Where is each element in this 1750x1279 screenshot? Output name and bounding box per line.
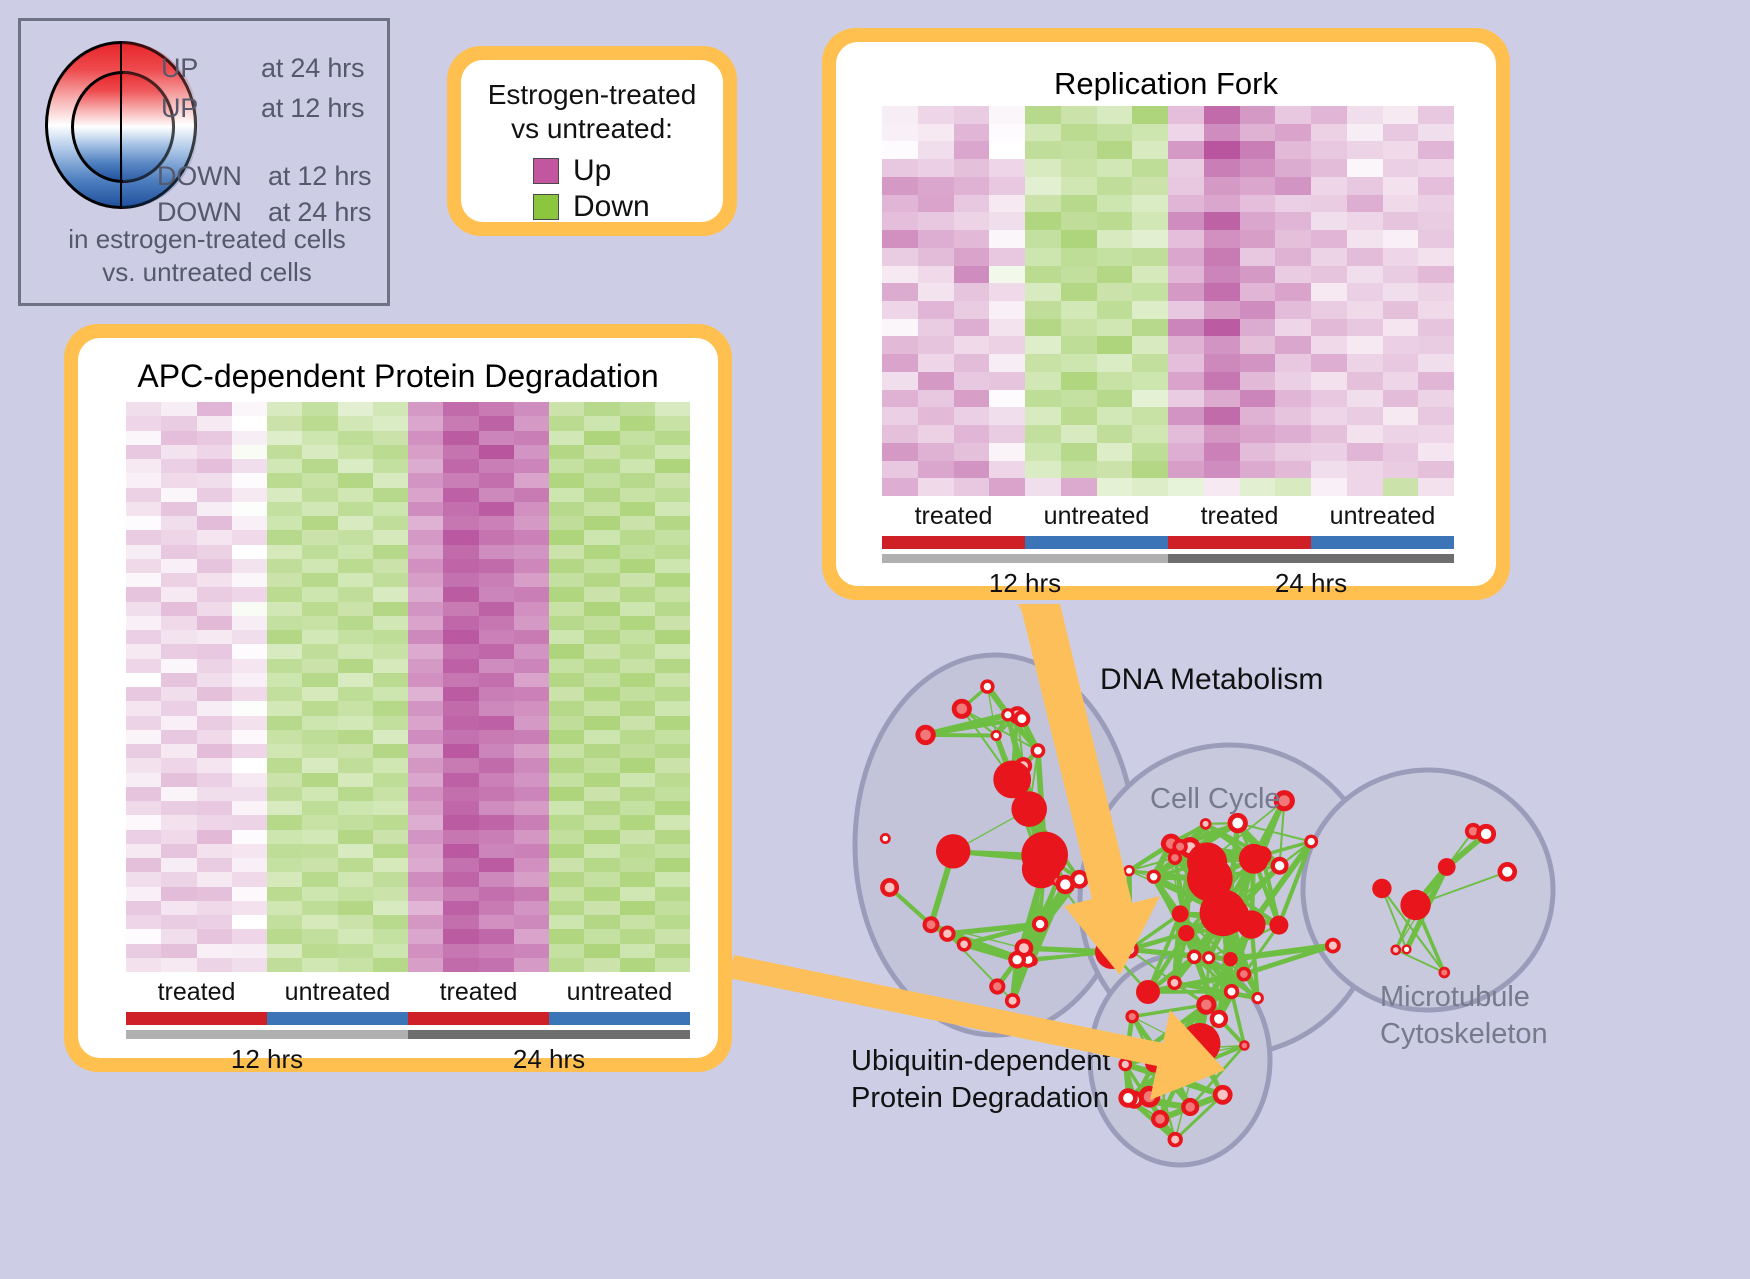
heatmap-cell <box>302 516 337 530</box>
network-node[interactable] <box>1123 865 1134 876</box>
heatmap-cell <box>479 602 514 616</box>
network-node[interactable] <box>1167 976 1182 991</box>
heatmap-cell <box>549 530 584 544</box>
heatmap-cell <box>620 815 655 829</box>
heatmap-cell <box>408 730 443 744</box>
heatmap-cell <box>302 915 337 929</box>
network-node[interactable] <box>1252 992 1264 1004</box>
network-node[interactable] <box>880 833 891 844</box>
network-node[interactable] <box>939 926 955 942</box>
heatmap-cell <box>549 830 584 844</box>
network-node[interactable] <box>1200 818 1212 830</box>
network-node[interactable] <box>1136 980 1160 1004</box>
heatmap-cell <box>1383 230 1419 248</box>
time-label-24hrs: 24 hrs <box>1168 568 1454 599</box>
heatmap-cell <box>584 944 619 958</box>
heatmap-cell <box>620 559 655 573</box>
network-node[interactable] <box>980 679 994 693</box>
heatmap-cell <box>989 177 1025 195</box>
network-node[interactable] <box>1172 839 1187 854</box>
network-node[interactable] <box>1147 870 1161 884</box>
heatmap-cell <box>1311 407 1347 425</box>
heatmap-cell <box>620 716 655 730</box>
heatmap-cell <box>655 758 690 772</box>
heatmap-cell <box>408 830 443 844</box>
heatmap-cell <box>197 573 232 587</box>
heatmap-cell <box>1204 443 1240 461</box>
heatmap-cell <box>1132 319 1168 337</box>
heatmap-cell <box>584 815 619 829</box>
heatmap-cell <box>549 644 584 658</box>
heatmap-cell <box>620 545 655 559</box>
heatmap-cell <box>1097 141 1133 159</box>
heatmap-cell <box>882 177 918 195</box>
heatmap-cell <box>338 687 373 701</box>
heatmap-cell <box>126 402 161 416</box>
network-node[interactable] <box>1178 925 1194 941</box>
heatmap-cell <box>620 502 655 516</box>
network-node[interactable] <box>1008 951 1026 969</box>
node-inner-core <box>1214 1014 1224 1024</box>
heatmap-cell <box>1025 443 1061 461</box>
heatmap-cell <box>620 445 655 459</box>
heatmap-cell <box>655 630 690 644</box>
heatmap-cell <box>479 929 514 943</box>
heatmap-cell <box>373 431 408 445</box>
node-inner-core <box>1004 711 1011 718</box>
heatmap-cell <box>882 195 918 213</box>
network-node[interactable] <box>1390 945 1401 956</box>
cond-label-0: treated <box>126 978 267 1007</box>
heatmap-cell <box>549 787 584 801</box>
network-node[interactable] <box>1213 1085 1233 1105</box>
heatmap-cell <box>1061 319 1097 337</box>
node-inner-core <box>1129 1013 1136 1020</box>
heatmap-cell <box>620 630 655 644</box>
heatmap-cell <box>373 416 408 430</box>
heatmap-cell <box>1025 159 1061 177</box>
heatmap-cell <box>1025 283 1061 301</box>
heatmap-cell <box>126 559 161 573</box>
network-node[interactable] <box>1196 995 1216 1015</box>
heatmap-cell <box>373 801 408 815</box>
heatmap-cell <box>1311 336 1347 354</box>
heatmap-cell <box>1418 124 1454 142</box>
heatmap-cell <box>408 502 443 516</box>
heatmap-cell <box>584 801 619 815</box>
network-node[interactable] <box>957 937 972 952</box>
network-node[interactable] <box>1439 967 1451 979</box>
time-bar-24hrs <box>1168 554 1454 563</box>
heatmap-cell <box>197 416 232 430</box>
heatmap-cell <box>161 402 196 416</box>
heatmap-cell <box>373 644 408 658</box>
heatmap-cell <box>161 901 196 915</box>
heatmap-cell <box>620 801 655 815</box>
heatmap-cell <box>1132 336 1168 354</box>
network-node[interactable] <box>1498 862 1518 882</box>
network-node[interactable] <box>1269 916 1288 935</box>
heatmap-cell <box>267 488 302 502</box>
heatmap-cell <box>549 445 584 459</box>
heatmap-cell <box>1383 248 1419 266</box>
node-outer-ring <box>1223 952 1237 966</box>
heatmap-cell <box>1383 283 1419 301</box>
network-node[interactable] <box>1372 879 1391 898</box>
network-node[interactable] <box>936 834 970 868</box>
heatmap-cell <box>1132 124 1168 142</box>
heatmap-cell <box>584 559 619 573</box>
heatmap-cell <box>1168 301 1204 319</box>
network-node[interactable] <box>1476 824 1496 844</box>
heatmap-cell <box>197 830 232 844</box>
heatmap-cell <box>882 478 918 496</box>
heatmap-cell <box>126 687 161 701</box>
heatmap-cell <box>1275 319 1311 337</box>
network-node[interactable] <box>1187 856 1233 902</box>
heatmap-cell <box>302 473 337 487</box>
heatmap-cell <box>1383 195 1419 213</box>
heatmap-cell <box>338 730 373 744</box>
network-node[interactable] <box>1402 944 1412 954</box>
network-node[interactable] <box>1237 967 1252 982</box>
node-outer-ring <box>1400 890 1430 920</box>
network-node[interactable] <box>1202 951 1215 964</box>
node-inner-core <box>1171 854 1178 861</box>
replication-fork-title: Replication Fork <box>836 66 1496 102</box>
heatmap-cell <box>655 459 690 473</box>
heatmap-cell <box>584 530 619 544</box>
heatmap-cell <box>1061 336 1097 354</box>
heatmap-cell <box>232 587 267 601</box>
heatmap-cell <box>918 390 954 408</box>
heatmap-cell <box>1168 443 1204 461</box>
heatmap-cell <box>232 431 267 445</box>
heatmap-cell <box>161 502 196 516</box>
heatmap-cell <box>1418 425 1454 443</box>
heatmap-cell <box>232 701 267 715</box>
heatmap-cell <box>655 687 690 701</box>
node-outer-ring <box>1011 791 1047 827</box>
heatmap-cell <box>514 630 549 644</box>
heatmap-cell <box>126 872 161 886</box>
heatmap-cell <box>408 545 443 559</box>
node-inner-core <box>1203 821 1209 827</box>
wheel-time-down-12: at 12 hrs <box>268 161 371 192</box>
heatmap-cell <box>373 602 408 616</box>
network-node[interactable] <box>1172 905 1189 922</box>
heatmap-cell <box>1097 124 1133 142</box>
heatmap-cell <box>620 858 655 872</box>
heatmap-cell <box>373 459 408 473</box>
heatmap-cell <box>1418 478 1454 496</box>
network-node[interactable] <box>1181 1098 1199 1116</box>
heatmap-cell <box>514 616 549 630</box>
network-node[interactable] <box>1118 1088 1137 1107</box>
heatmap-cell <box>1025 230 1061 248</box>
node-inner-core <box>1171 979 1179 987</box>
heatmap-cell <box>882 319 918 337</box>
heatmap-cell <box>954 141 990 159</box>
heatmap-cell <box>1418 283 1454 301</box>
heatmap-cell <box>584 901 619 915</box>
node-inner-core <box>1228 988 1236 996</box>
network-node[interactable] <box>1013 710 1030 727</box>
heatmap-cell <box>549 602 584 616</box>
heatmap-cell <box>1132 390 1168 408</box>
network-node[interactable] <box>1001 708 1014 721</box>
network-node[interactable] <box>991 730 1002 741</box>
heatmap-cell <box>126 502 161 516</box>
wheel-time-up-24: at 24 hrs <box>261 53 364 84</box>
network-node[interactable] <box>1271 857 1289 875</box>
heatmap-cell <box>161 801 196 815</box>
heatmap-cell <box>1097 354 1133 372</box>
network-node[interactable] <box>1139 1086 1161 1108</box>
heatmap-cell <box>1311 372 1347 390</box>
heatmap-cell <box>620 929 655 943</box>
heatmap-cell <box>1025 407 1061 425</box>
heatmap-cell <box>549 730 584 744</box>
heatmap-cell <box>1168 425 1204 443</box>
heatmap-cell <box>479 530 514 544</box>
heatmap-cell <box>514 872 549 886</box>
network-node[interactable] <box>1011 791 1047 827</box>
heatmap-cell <box>267 587 302 601</box>
node-inner-core <box>1013 955 1022 964</box>
heatmap-cell <box>954 443 990 461</box>
heatmap-cell <box>267 659 302 673</box>
node-inner-core <box>1144 1091 1155 1102</box>
heatmap-cell <box>1132 230 1168 248</box>
node-outer-ring <box>1438 858 1456 876</box>
heatmap-cell <box>1311 212 1347 230</box>
heatmap-cell <box>302 730 337 744</box>
heatmap-cell <box>408 716 443 730</box>
network-node[interactable] <box>1400 890 1430 920</box>
heatmap-cell <box>443 459 478 473</box>
heatmap-cell <box>954 283 990 301</box>
heatmap-cell <box>302 488 337 502</box>
heatmap-cell <box>232 402 267 416</box>
heatmap-cell <box>620 901 655 915</box>
heatmap-cell <box>443 416 478 430</box>
heatmap-cell <box>373 473 408 487</box>
heatmap-cell <box>1025 106 1061 124</box>
heatmap-cell <box>1061 159 1097 177</box>
heatmap-cell <box>232 815 267 829</box>
heatmap-cell <box>549 659 584 673</box>
heatmap-cell <box>882 443 918 461</box>
heatmap-cell <box>373 815 408 829</box>
heatmap-cell <box>1132 212 1168 230</box>
heatmap-cell <box>514 402 549 416</box>
heatmap-cell <box>267 744 302 758</box>
heatmap-cell <box>161 573 196 587</box>
heatmap-cell <box>1275 301 1311 319</box>
node-inner-core <box>1186 1102 1195 1111</box>
heatmap-cell <box>443 701 478 715</box>
heatmap-cell <box>479 716 514 730</box>
network-node[interactable] <box>1325 938 1341 954</box>
heatmap-cell <box>1240 407 1276 425</box>
network-node[interactable] <box>1070 870 1089 889</box>
heatmap-cell <box>1025 354 1061 372</box>
heatmap-cell <box>197 473 232 487</box>
heatmap-cell <box>655 502 690 516</box>
network-node[interactable] <box>1253 846 1272 865</box>
heatmap-cell <box>584 602 619 616</box>
heatmap-cell <box>1418 141 1454 159</box>
network-node[interactable] <box>1036 850 1056 870</box>
heatmap-cell <box>655 915 690 929</box>
heatmap-cell <box>620 701 655 715</box>
heatmap-cell <box>620 887 655 901</box>
heatmap-cell <box>514 473 549 487</box>
heatmap-cell <box>408 901 443 915</box>
heatmap-cell <box>918 301 954 319</box>
heatmap-cell <box>1347 478 1383 496</box>
heatmap-cell <box>882 248 918 266</box>
heatmap-cell <box>232 915 267 929</box>
heatmap-cell <box>443 573 478 587</box>
heatmap-cell <box>479 559 514 573</box>
heatmap-cell <box>655 801 690 815</box>
heatmap-cell <box>989 336 1025 354</box>
heatmap-cell <box>954 212 990 230</box>
network-node[interactable] <box>1223 952 1237 966</box>
heatmap-cell <box>1418 461 1454 479</box>
network-node[interactable] <box>1125 1010 1139 1024</box>
heatmap-cell <box>267 573 302 587</box>
heatmap-cell <box>161 958 196 972</box>
network-node[interactable] <box>880 878 899 897</box>
network-node[interactable] <box>1005 993 1020 1008</box>
heatmap-cell <box>479 944 514 958</box>
heatmap-cell <box>302 673 337 687</box>
heatmap-cell <box>267 901 302 915</box>
heatmap-cell <box>373 445 408 459</box>
heatmap-cell <box>267 416 302 430</box>
network-node[interactable] <box>1304 835 1318 849</box>
network-node[interactable] <box>989 978 1005 994</box>
heatmap-cell <box>161 673 196 687</box>
heatmap-cell <box>197 773 232 787</box>
network-node[interactable] <box>915 725 935 745</box>
heatmap-cell <box>514 830 549 844</box>
heatmap-cell <box>1347 248 1383 266</box>
heatmap-cell <box>338 587 373 601</box>
heatmap-cell <box>549 901 584 915</box>
heatmap-cell <box>954 425 990 443</box>
heatmap-cell <box>408 573 443 587</box>
heatmap-cell <box>514 530 549 544</box>
node-inner-core <box>1075 874 1085 884</box>
heatmap-cell <box>408 559 443 573</box>
heatmap-cell <box>918 141 954 159</box>
heatmap-cell <box>302 801 337 815</box>
heatmap-cell <box>514 701 549 715</box>
heatmap-cell <box>1275 443 1311 461</box>
heatmap-cell <box>126 644 161 658</box>
network-node[interactable] <box>1187 950 1202 965</box>
heatmap-cell <box>1383 407 1419 425</box>
heatmap-cell <box>1418 212 1454 230</box>
figure-canvas: UP at 24 hrs UP at 12 hrs DOWN at 12 hrs… <box>0 0 1750 1279</box>
heatmap-cell <box>338 773 373 787</box>
heatmap-cell <box>197 901 232 915</box>
heatmap-cell <box>161 716 196 730</box>
heatmap-cell <box>479 730 514 744</box>
heatmap-cell <box>1097 266 1133 284</box>
heatmap-cell <box>267 559 302 573</box>
heatmap-cell <box>584 431 619 445</box>
heatmap-cell <box>989 478 1025 496</box>
heatmap-cell <box>443 958 478 972</box>
network-node[interactable] <box>1179 1023 1220 1064</box>
heatmap-cell <box>197 716 232 730</box>
network-node[interactable] <box>1224 984 1239 999</box>
network-node[interactable] <box>1118 1058 1132 1072</box>
network-node[interactable] <box>1032 916 1048 932</box>
network-node[interactable] <box>952 699 972 719</box>
heatmap-cell <box>126 929 161 943</box>
heatmap-cell <box>918 195 954 213</box>
network-node[interactable] <box>923 916 940 933</box>
heatmap-cell <box>443 545 478 559</box>
node-inner-core <box>883 836 889 842</box>
heatmap-cell <box>1240 354 1276 372</box>
estrogen-key-title: Estrogen-treated vs untreated: <box>471 78 713 146</box>
heatmap-cell <box>655 887 690 901</box>
apc-title: APC-dependent Protein Degradation <box>78 358 718 395</box>
heatmap-cell <box>1275 106 1311 124</box>
network-node[interactable] <box>1168 1132 1183 1147</box>
node-outer-ring <box>1136 980 1160 1004</box>
network-node[interactable] <box>1151 1110 1169 1128</box>
node-outer-ring <box>1095 935 1129 969</box>
network-node[interactable] <box>1166 1067 1182 1083</box>
network-node[interactable] <box>1438 858 1456 876</box>
heatmap-cell <box>620 787 655 801</box>
network-node[interactable] <box>1095 935 1129 969</box>
heatmap-cell <box>161 929 196 943</box>
heatmap-cell <box>302 416 337 430</box>
network-node[interactable] <box>1031 743 1046 758</box>
cond-bar-treated-24 <box>1168 536 1311 549</box>
heatmap-cell <box>267 530 302 544</box>
heatmap-cell <box>408 815 443 829</box>
heatmap-cell <box>302 445 337 459</box>
heatmap-cell <box>1418 336 1454 354</box>
heatmap-cell <box>1240 212 1276 230</box>
node-inner-core <box>1122 1061 1129 1068</box>
heatmap-cell <box>1240 106 1276 124</box>
cond-label-2: treated <box>408 978 549 1007</box>
heatmap-cell <box>338 473 373 487</box>
heatmap-cell <box>373 701 408 715</box>
heatmap-cell <box>918 336 954 354</box>
heatmap-cell <box>161 644 196 658</box>
node-inner-core <box>993 733 999 739</box>
heatmap-cell <box>126 473 161 487</box>
node-inner-core <box>1275 861 1284 870</box>
heatmap-cell <box>549 958 584 972</box>
network-node[interactable] <box>1239 1040 1250 1051</box>
heatmap-cell <box>126 516 161 530</box>
heatmap-cell <box>620 616 655 630</box>
heatmap-cell <box>1240 124 1276 142</box>
